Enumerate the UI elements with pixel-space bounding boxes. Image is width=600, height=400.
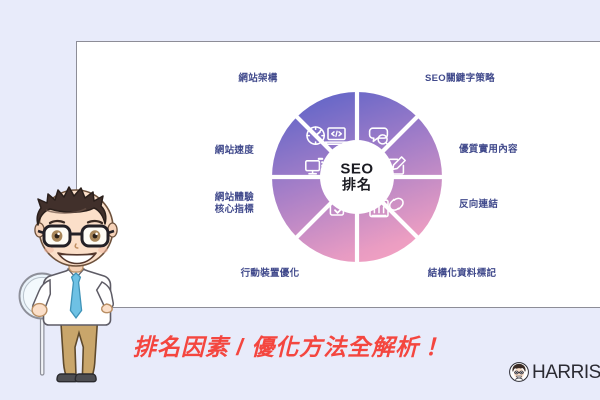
mascot-cheek-left: [44, 247, 54, 253]
mascot-cheek-right: [98, 247, 108, 253]
segment-label-core-web-vitals: 網站體驗 核心指標: [215, 192, 254, 216]
seo-donut-chart: SEO 排名: [271, 91, 443, 263]
speedometer-icon: [307, 127, 324, 144]
mascot-eye-glint-right: [95, 233, 98, 236]
mascot-tie: [70, 273, 81, 318]
mascot-shoe-left: [57, 374, 78, 382]
mascot-eye-glint-left: [57, 233, 60, 236]
harris-face-logo-icon: [509, 362, 529, 382]
core-web-vitals-line2: 核心指標: [215, 204, 254, 215]
slide-canvas: SEO 排名 網站架構 SEO關鍵字策略 優質實用內容 反向連結 結構化資料標記…: [0, 0, 600, 400]
brand-name: HARRIS: [532, 363, 600, 382]
segment-label-structured-data: 結構化資料標記: [428, 268, 497, 280]
brand-logo: HARRIS: [509, 362, 600, 382]
mascot-hand-left: [32, 304, 47, 317]
mascot-shoe-right: [75, 374, 96, 382]
segment-label-site-architecture: 網站架構: [238, 73, 277, 85]
segment-label-site-speed: 網站速度: [215, 145, 254, 157]
segment-label-backlinks: 反向連結: [459, 199, 498, 211]
segment-label-keyword-strategy: SEO關鍵字策略: [425, 73, 495, 85]
mascot-trousers: [56, 320, 97, 376]
harris-mascot-illustration: [8, 170, 143, 400]
headline-text: 排名因素 / 優化方法全解析！: [133, 328, 443, 362]
segment-label-quality-content: 優質實用內容: [459, 144, 518, 156]
mascot-hand-right: [102, 304, 113, 313]
segment-label-mobile-optimization: 行動裝置優化: [241, 268, 300, 280]
core-web-vitals-line1: 網站體驗: [215, 192, 254, 203]
donut-hub: [321, 141, 394, 214]
